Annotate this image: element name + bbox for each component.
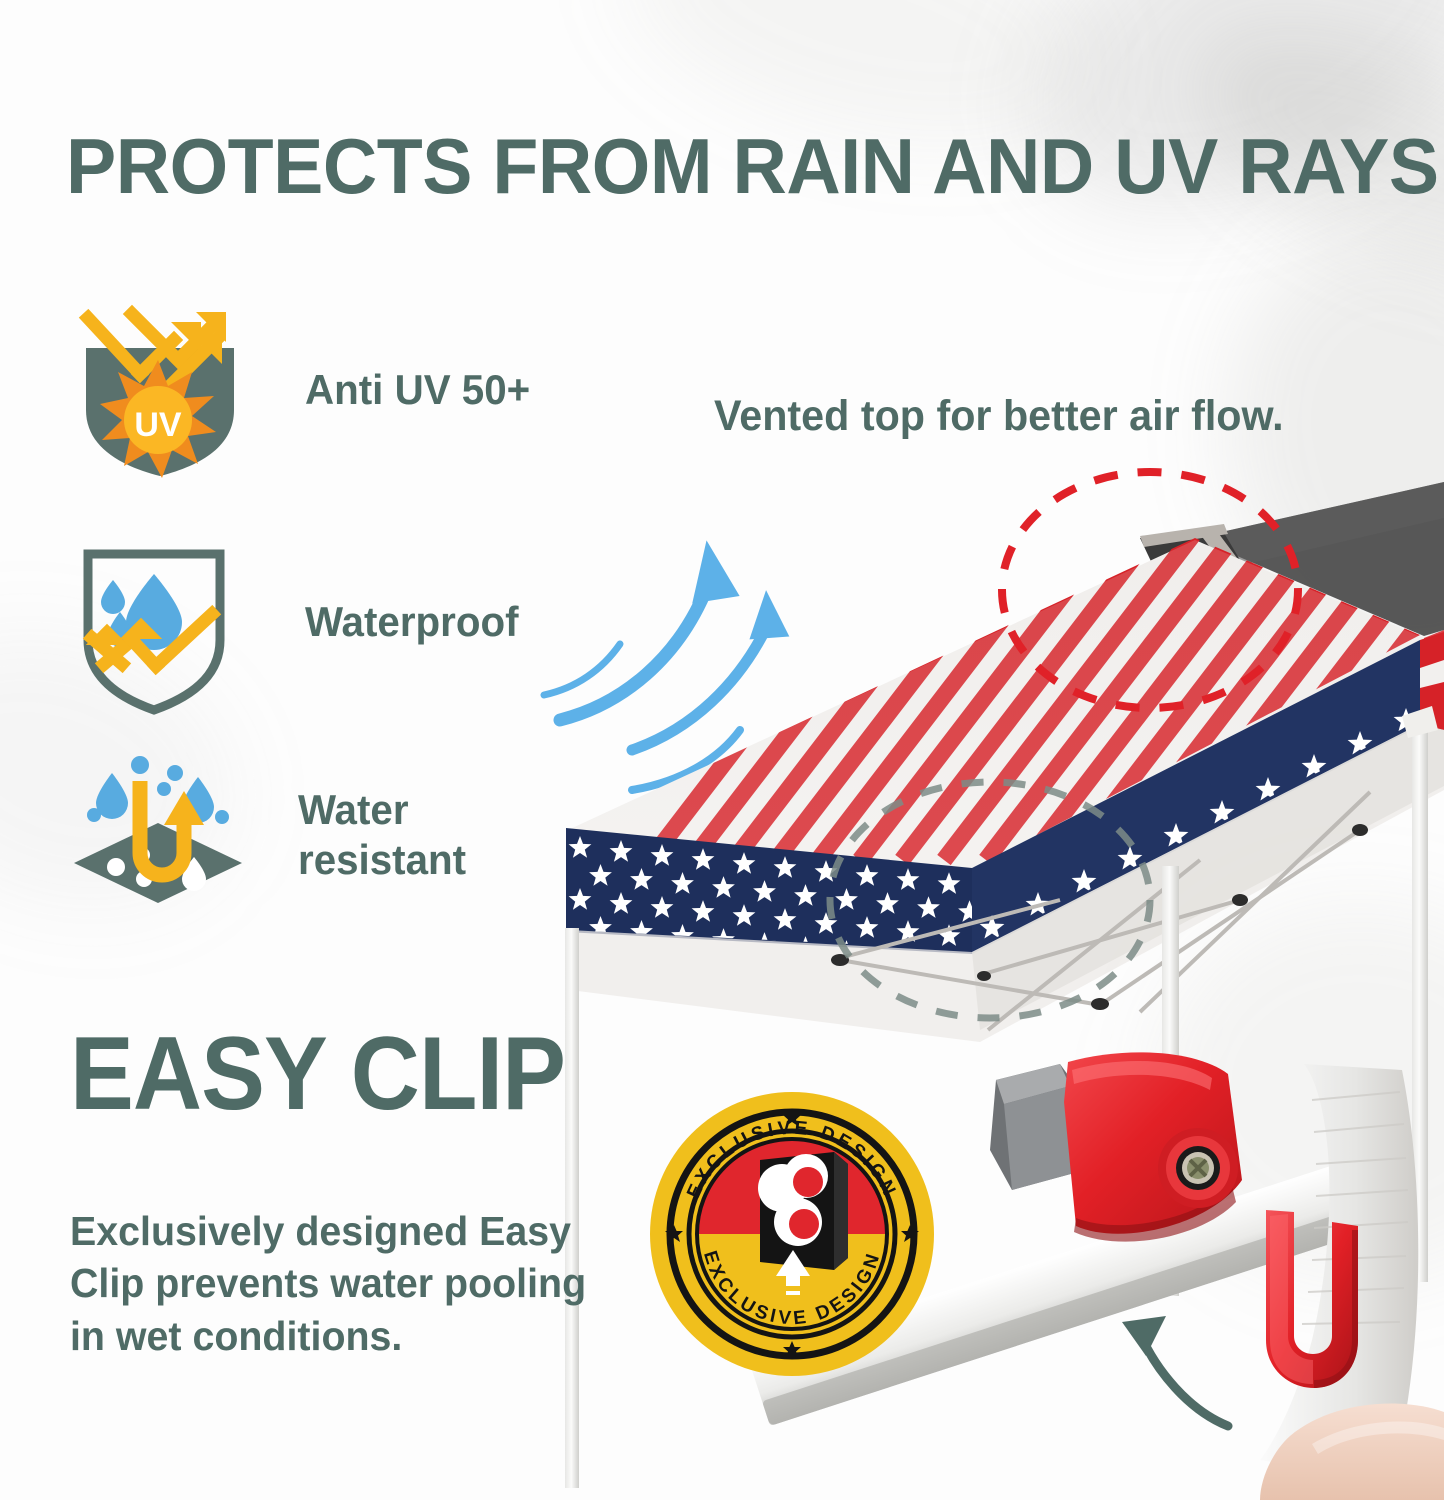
easy-clip-red-collar bbox=[1064, 1052, 1242, 1241]
feature-label-waterproof: Waterproof bbox=[305, 597, 519, 647]
feature-row-water-resistant: Water resistant bbox=[70, 745, 473, 925]
waterproof-shield-icon bbox=[70, 532, 250, 712]
feature-label-anti-uv: Anti UV 50+ bbox=[305, 365, 530, 415]
uv-shield-icon: UV bbox=[70, 300, 250, 480]
feature-label-line-2: resistant bbox=[298, 836, 466, 883]
water-resistant-surface-icon bbox=[70, 745, 250, 925]
uv-badge-label: UV bbox=[134, 406, 182, 444]
easy-clip-closeup-photo bbox=[960, 1040, 1444, 1500]
feature-label-water-resistant: Water resistant bbox=[298, 785, 466, 886]
easy-clip-body: Exclusively designed Easy Clip prevents … bbox=[70, 1205, 588, 1362]
infographic-canvas: PROTECTS FROM RAIN AND UV RAYS bbox=[0, 0, 1444, 1500]
feature-row-waterproof: Waterproof bbox=[70, 532, 527, 712]
page-title: PROTECTS FROM RAIN AND UV RAYS bbox=[66, 128, 1330, 204]
easy-clip-title: EASY CLIP bbox=[70, 1022, 565, 1126]
exclusive-design-badge: EXCLUSIVE DESIGN EXCLUSIVE DESIGN bbox=[648, 1090, 936, 1378]
feature-row-anti-uv: UV Anti UV 50+ bbox=[70, 300, 540, 480]
feature-label-line-1: Water bbox=[298, 786, 409, 833]
clip-direction-arrow bbox=[1140, 1334, 1228, 1426]
